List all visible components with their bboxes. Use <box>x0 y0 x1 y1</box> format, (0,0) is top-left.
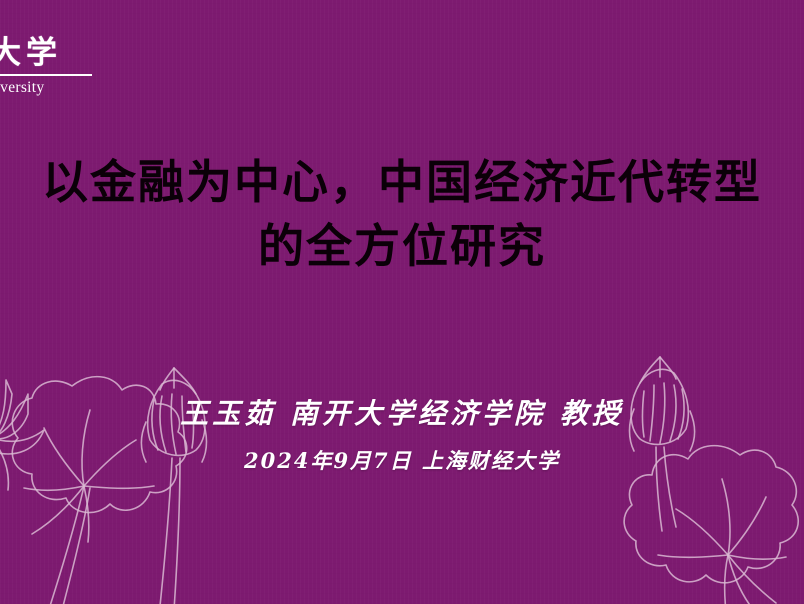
logo-english-text: kai University <box>0 80 142 96</box>
title-line-2: 的全方位研究 <box>0 214 804 278</box>
logo-chinese-text: 开大学 <box>0 38 142 69</box>
venue-and-date: 2024年9月7日 上海财经大学 <box>0 447 804 475</box>
logo-divider-rule <box>0 74 92 76</box>
title-slide: 开大学 kai University 以金融为中心，中国经济近代转型 的全方位研… <box>0 0 804 604</box>
slide-byline: 王玉茹 南开大学经济学院 教授 2024年9月7日 上海财经大学 <box>0 396 804 475</box>
slide-title: 以金融为中心，中国经济近代转型 的全方位研究 <box>0 150 804 278</box>
nankai-university-logo: 开大学 kai University <box>0 38 142 96</box>
presenter-name-and-affiliation: 王玉茹 南开大学经济学院 教授 <box>0 396 804 432</box>
title-line-1: 以金融为中心，中国经济近代转型 <box>0 150 804 214</box>
lotus-leaf-and-bud-right-icon <box>556 351 804 604</box>
